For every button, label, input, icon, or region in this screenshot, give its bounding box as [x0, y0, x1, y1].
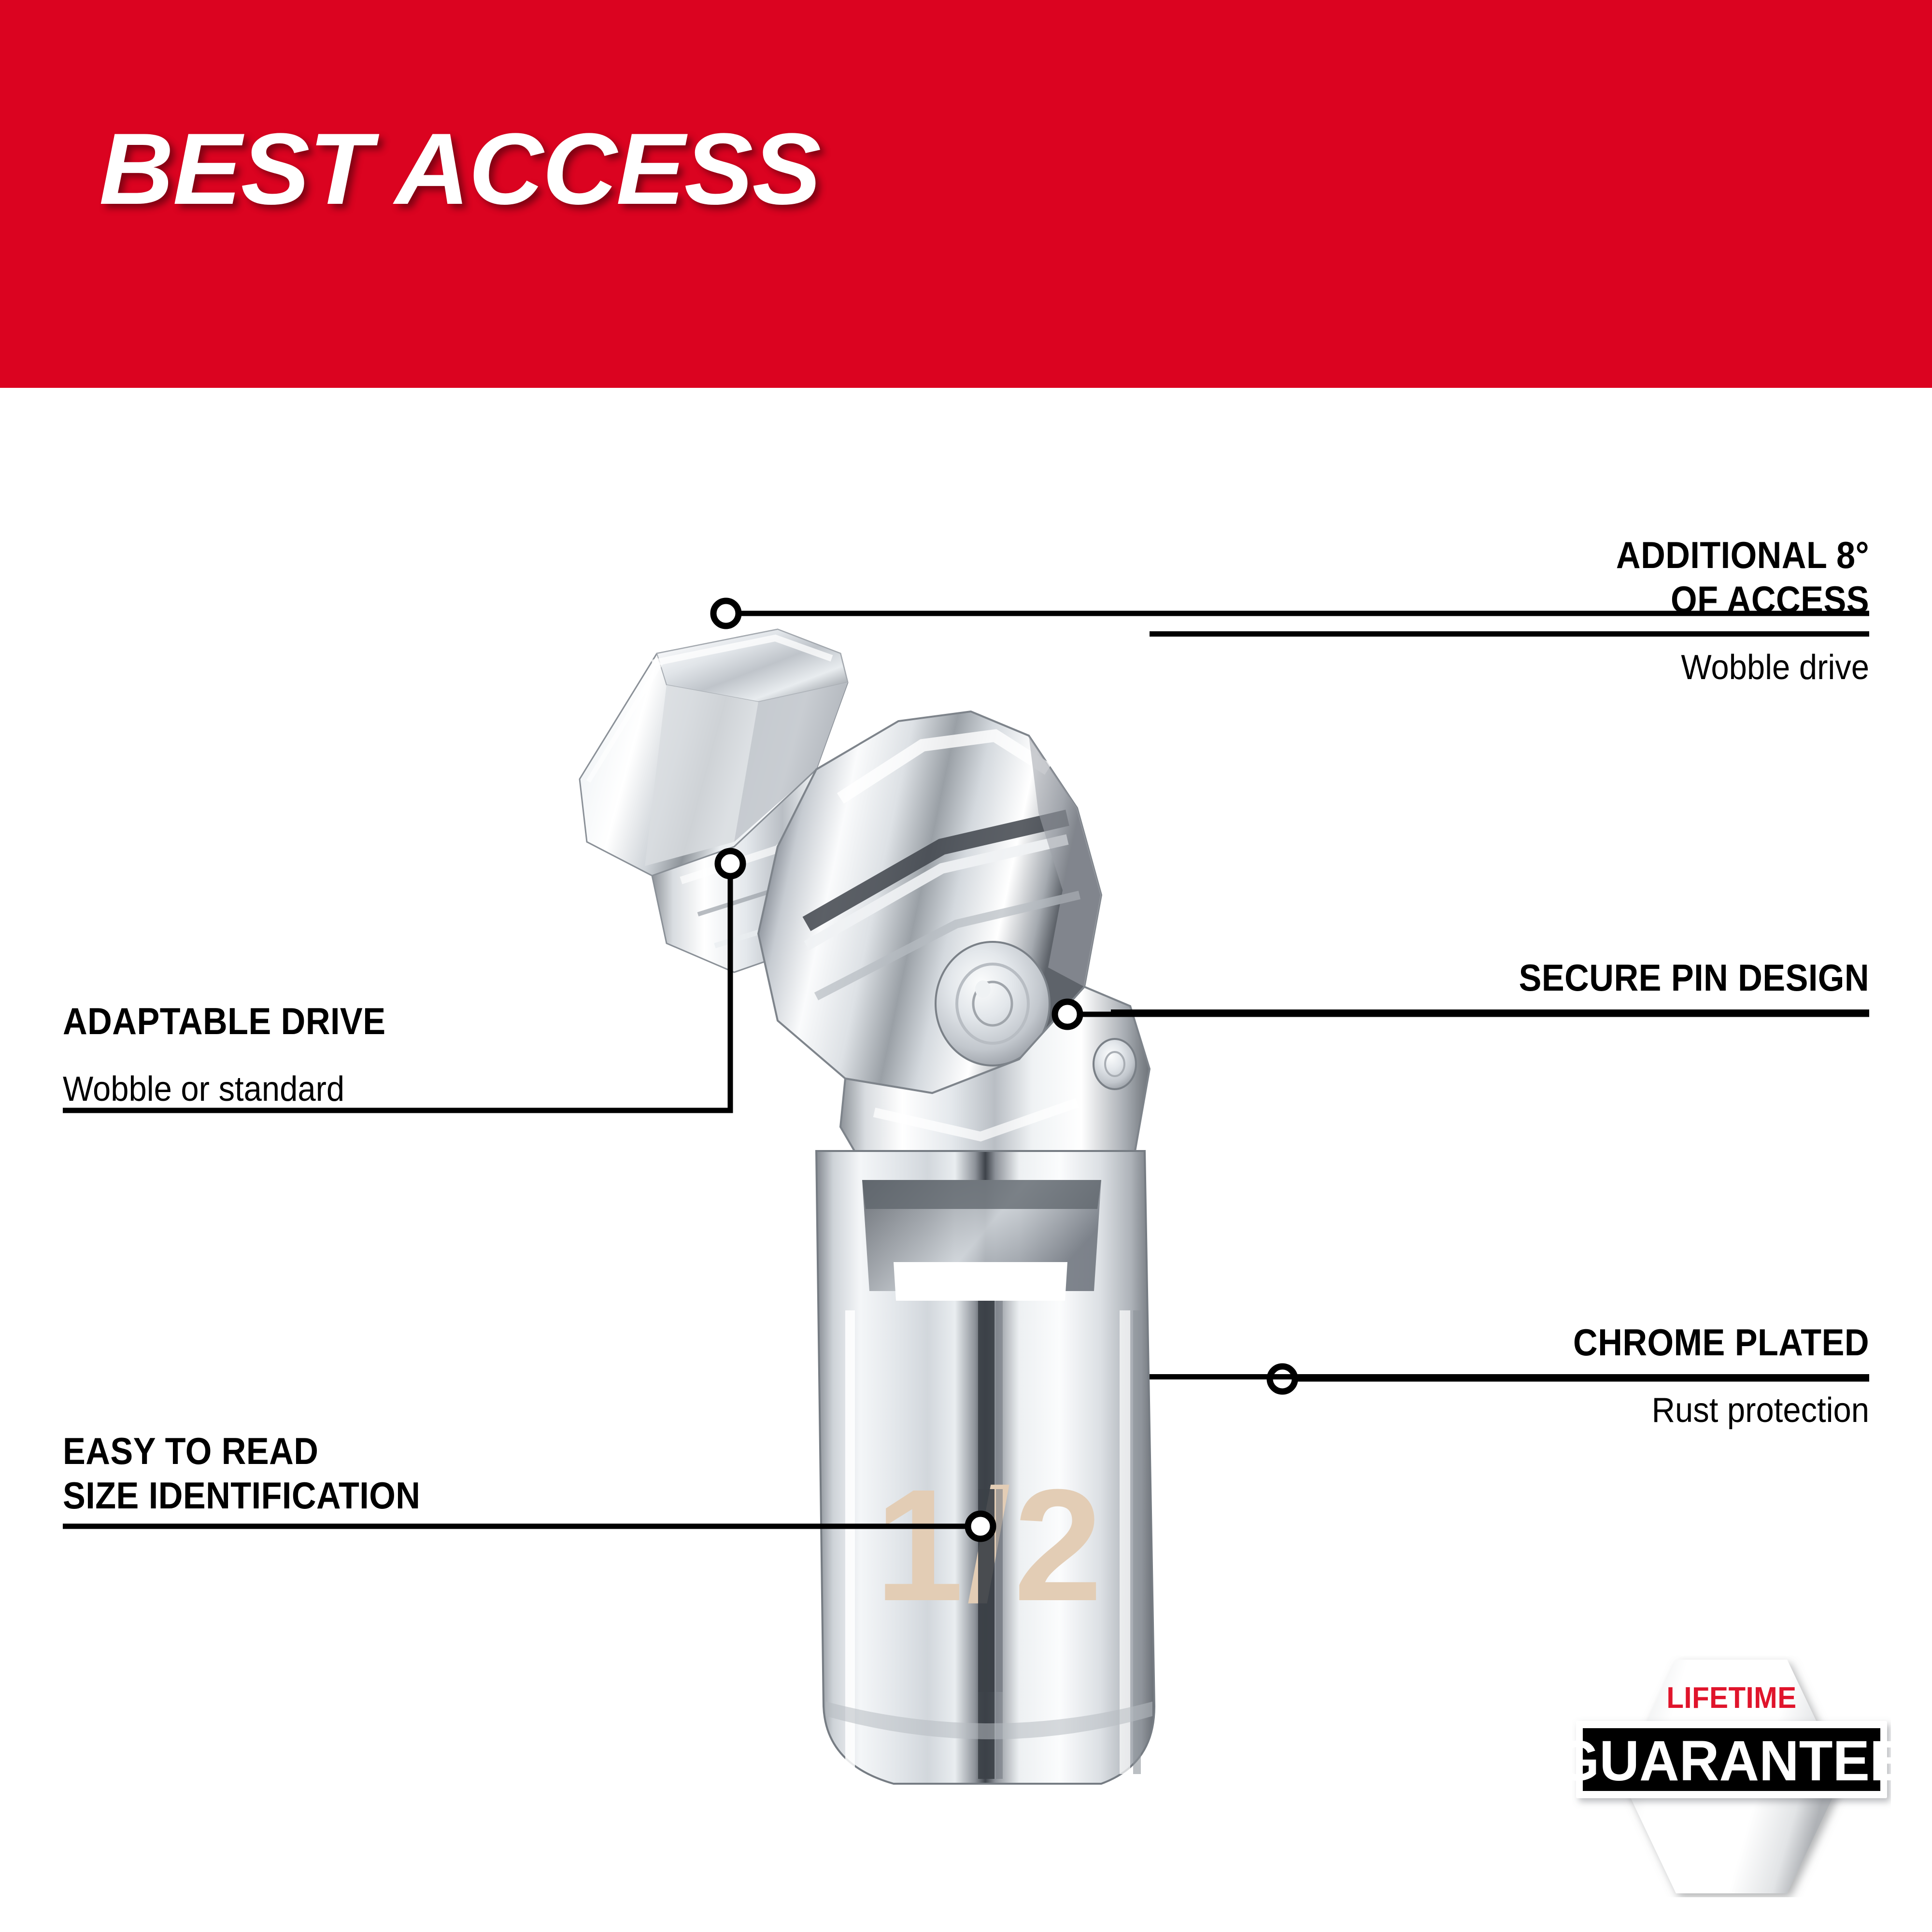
callout-headline-line1: ADDITIONAL 8°: [1222, 533, 1869, 577]
header-band: BEST ACCESS: [0, 0, 1932, 388]
callout-subtitle: Wobble drive: [1200, 647, 1869, 688]
badge-top-label: LIFETIME: [1666, 1681, 1796, 1714]
callout-chrome-plated: CHROME PLATED Rust protection: [1150, 1320, 1869, 1431]
callout-subtitle: Wobble or standard: [63, 1069, 703, 1109]
callout-secure-pin-design: SECURE PIN DESIGN: [1111, 955, 1869, 1015]
content-stage: 1/2 ADDITION: [0, 388, 1932, 1932]
callout-headline-line1: EASY TO READ: [63, 1429, 889, 1473]
callout-adaptable-drive: ADAPTABLE DRIVE Wobble or standard: [63, 999, 751, 1109]
callout-rule: [1150, 631, 1869, 637]
product-image-universal-joint-socket: 1/2: [507, 509, 1367, 1822]
callout-subtitle: Rust protection: [1200, 1390, 1869, 1431]
callout-headline-line2: SIZE IDENTIFICATION: [63, 1473, 889, 1518]
callout-headline-line1: SECURE PIN DESIGN: [1187, 955, 1869, 1000]
callout-additional-access: ADDITIONAL 8° OF ACCESS Wobble drive: [1150, 533, 1869, 688]
badge-main-label: GUARANTEE: [1572, 1729, 1891, 1792]
lifetime-guarantee-badge: LIFETIME GUARANTEE: [1572, 1656, 1891, 1897]
callout-rule: [1111, 1009, 1869, 1015]
callout-headline-line2: OF ACCESS: [1222, 577, 1869, 622]
page-title: BEST ACCESS: [99, 118, 820, 220]
callout-rule: [1150, 1374, 1869, 1379]
callout-headline-line1: CHROME PLATED: [1222, 1320, 1869, 1364]
callout-headline-line1: ADAPTABLE DRIVE: [63, 999, 682, 1043]
callout-size-identification: EASY TO READ SIZE IDENTIFICATION: [63, 1429, 980, 1533]
